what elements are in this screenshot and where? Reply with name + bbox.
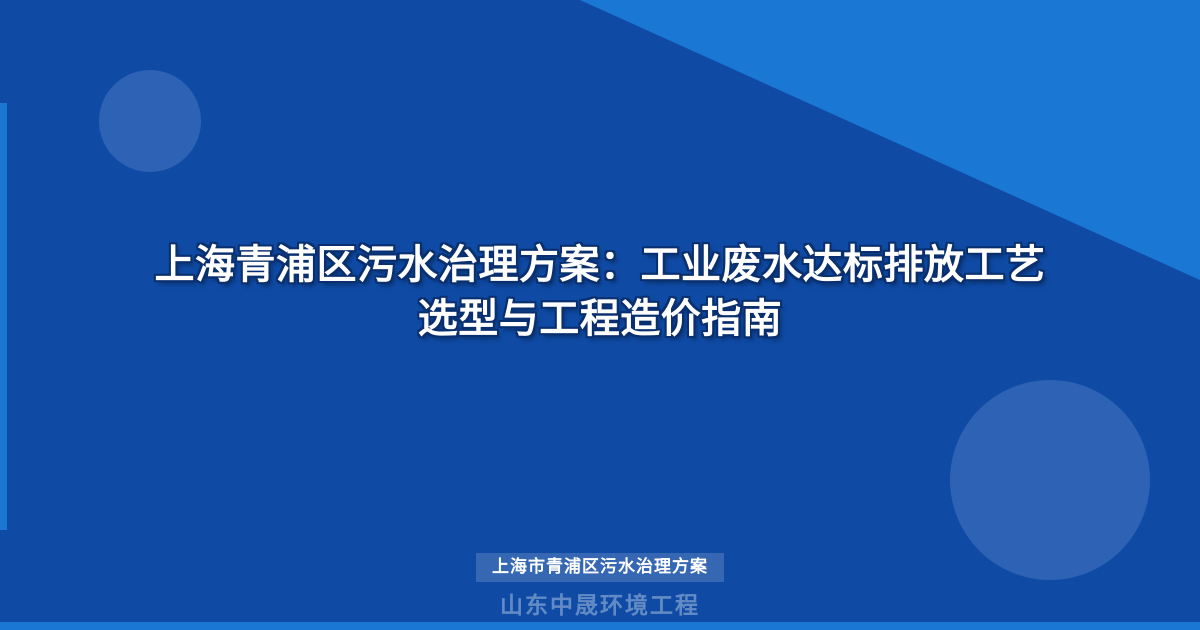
bottom-accent-bar-shape xyxy=(0,622,1200,630)
poster-canvas: 上海青浦区污水治理方案：工业废水达标排放工艺选型与工程造价指南 上海市青浦区污水… xyxy=(0,0,1200,630)
watermark-label: 山东中晟环境工程 xyxy=(500,593,700,618)
footer-container: 上海市青浦区污水治理方案 山东中晟环境工程 xyxy=(0,553,1200,618)
page-title: 上海青浦区污水治理方案：工业废水达标排放工艺选型与工程造价指南 xyxy=(150,238,1050,346)
bottom-right-circle-shape xyxy=(950,380,1150,580)
top-left-circle-shape xyxy=(99,70,201,172)
headline-container: 上海青浦区污水治理方案：工业废水达标排放工艺选型与工程造价指南 xyxy=(0,238,1200,346)
status-badge: 上海市青浦区污水治理方案 xyxy=(476,553,724,582)
